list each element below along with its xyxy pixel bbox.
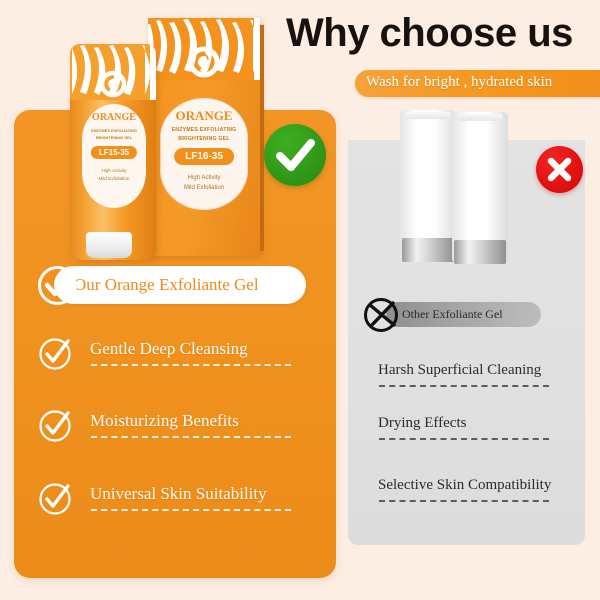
item-underline: [379, 500, 549, 502]
other-tube-right: [452, 112, 508, 262]
list-item: Drying Effects: [378, 415, 578, 459]
list-item-label: Drying Effects: [378, 415, 578, 432]
page-title: Why choose us: [286, 11, 573, 56]
tube-seam: [457, 114, 503, 121]
check-glyph: [264, 124, 326, 186]
carton-tagline-1: High Activity: [160, 174, 248, 182]
list-item-label: Harsh Superficial Cleaning: [378, 362, 578, 379]
tube-brand: ORANGE: [82, 112, 146, 123]
check-circle-icon: [38, 409, 72, 443]
item-underline: [91, 364, 291, 366]
cross-glyph: [536, 146, 583, 193]
list-item: Moisturizing Benefits: [38, 405, 306, 451]
tube-seam: [405, 112, 451, 119]
tube-subtitle-2: BRIGHTENING GEL: [82, 135, 146, 140]
citrus-peel-graphic-tube: [70, 44, 156, 100]
green-check-badge-icon: [264, 124, 326, 186]
check-circle-icon: [38, 337, 72, 371]
list-item-label: Selective Skin Compatibility: [378, 477, 578, 494]
other-tube-left: [400, 110, 456, 260]
list-item: Harsh Superficial Cleaning: [378, 362, 578, 406]
tube-cap: [86, 232, 132, 258]
carton-subtitle-1: ENZYMES EXFOLIATING: [160, 127, 248, 134]
item-underline: [379, 438, 549, 440]
carton-code: LF16-35: [174, 148, 234, 165]
carton-subtitle-2: BRIGHTENING GEL: [160, 136, 248, 143]
other-product-heading: Other Exfoliante Gel: [402, 307, 552, 322]
cross-circle-icon: [362, 296, 400, 334]
carton-peel-pattern: [148, 18, 260, 80]
subtitle-text: Wash for bright , hydrated skin: [366, 74, 596, 91]
tube-label: ORANGE ENZYMES EXFOLIATING BRIGHTENING G…: [82, 104, 146, 208]
tube-code: LF15-35: [91, 146, 137, 159]
tube-cap-silver: [402, 238, 454, 262]
list-item: Universal Skin Suitability: [38, 478, 306, 524]
our-product-heading: Our Orange Exfoliante Gel: [74, 275, 304, 295]
check-circle-icon: [38, 482, 72, 516]
tube-peel-pattern: [70, 44, 156, 100]
tube-tagline-1: High Activity: [82, 168, 146, 174]
list-item: Selective Skin Compatibility: [378, 477, 578, 521]
carton-brand: ORANGE: [160, 108, 248, 124]
list-item-label: Moisturizing Benefits: [90, 411, 306, 431]
citrus-peel-graphic: [148, 18, 260, 80]
carton-tagline-2: Mild Exfoliation: [160, 184, 248, 192]
carton-label: ORANGE ENZYMES EXFOLIATING BRIGHTENING G…: [160, 98, 248, 210]
item-underline: [91, 509, 291, 511]
item-underline: [91, 436, 291, 438]
tube-subtitle-1: ENZYMES EXFOLIATING: [82, 128, 146, 133]
red-cross-badge-icon: [536, 146, 583, 193]
list-item-label: Gentle Deep Cleansing: [90, 339, 306, 359]
tube-cap-silver: [454, 240, 506, 264]
infographic-canvas: Why choose us Wash for bright , hydrated…: [0, 0, 600, 600]
tube-tagline-2: Mild Exfoliation: [82, 176, 146, 182]
product-artwork: ORANGE ENZYMES EXFOLIATING BRIGHTENING G…: [60, 0, 280, 270]
list-item-label: Universal Skin Suitability: [90, 484, 306, 504]
item-underline: [379, 385, 549, 387]
list-item: Gentle Deep Cleansing: [38, 333, 306, 379]
check-circle-icon: [36, 264, 79, 307]
